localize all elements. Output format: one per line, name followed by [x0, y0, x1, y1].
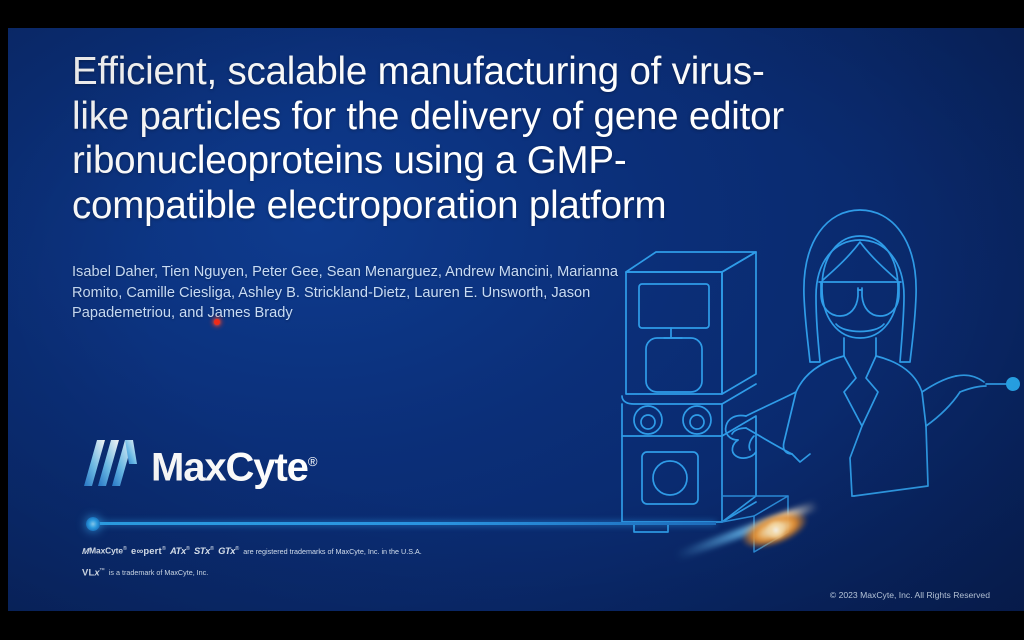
flare-hotspot — [766, 520, 786, 540]
product-gtx: GTx — [218, 545, 235, 556]
scientist-hand-icon — [726, 415, 756, 458]
trademark-two-tail-text: is a trademark of MaxCyte, Inc. — [109, 568, 208, 577]
safety-glasses-icon — [819, 282, 901, 316]
page-title: Efficient, scalable manufacturing of vir… — [72, 50, 802, 228]
product-stx-sup: ® — [210, 546, 214, 552]
instrument-dial-right — [683, 406, 711, 434]
pointer-node — [986, 377, 1020, 391]
trademark-line-two: VLx™is a trademark of MaxCyte, Inc. — [82, 566, 642, 579]
trademark-brand: MaxCyte — [89, 546, 123, 556]
footer-legal-block: MMaxCyte®e∞pert®ATx®STx®GTx®are register… — [82, 544, 642, 578]
accent-rule-bar — [95, 522, 716, 525]
title-block: Efficient, scalable manufacturing of vir… — [72, 50, 802, 228]
maxcyte-logo: MaxCyte® — [84, 440, 317, 489]
presentation-viewport: Efficient, scalable manufacturing of vir… — [0, 0, 1024, 640]
flare-core — [729, 504, 813, 559]
product-vlx-sup: ™ — [99, 568, 105, 574]
electroporation-instrument-icon — [622, 252, 788, 552]
trademark-tail-text: are registered trademarks of MaxCyte, In… — [243, 547, 422, 556]
light-flare — [680, 496, 850, 568]
product-expert: e∞pert — [131, 545, 162, 556]
scientist-with-instrument-illustration — [604, 196, 1024, 566]
wordmark-text: MaxCyte — [151, 445, 308, 489]
accent-rule — [86, 517, 716, 531]
scientist-figure-icon — [726, 210, 986, 496]
maxcyte-wordmark: MaxCyte® — [151, 440, 317, 489]
product-expert-sup: ® — [162, 546, 166, 552]
product-vlx-base: VL — [82, 566, 94, 577]
accent-rule-node — [86, 517, 100, 531]
maxcyte-m-logomark — [84, 440, 142, 486]
trademark-line-one: MMaxCyte®e∞pert®ATx®STx®GTx®are register… — [82, 544, 642, 557]
registered-mark: ® — [308, 454, 318, 469]
product-atx: ATx — [170, 545, 186, 556]
authors-block: Isabel Daher, Tien Nguyen, Peter Gee, Se… — [72, 262, 632, 324]
trademark-brand-sup: ® — [123, 546, 127, 552]
product-stx: STx — [194, 545, 210, 556]
slide-canvas: Efficient, scalable manufacturing of vir… — [8, 28, 1024, 611]
author-list: Isabel Daher, Tien Nguyen, Peter Gee, Se… — [72, 262, 632, 324]
product-gtx-sup: ® — [235, 546, 239, 552]
instrument-dial-left — [634, 406, 662, 434]
copyright-notice: © 2023 MaxCyte, Inc. All Rights Reserved — [830, 590, 990, 600]
maxcyte-m-glyph: M — [82, 546, 90, 557]
product-atx-sup: ® — [186, 546, 190, 552]
